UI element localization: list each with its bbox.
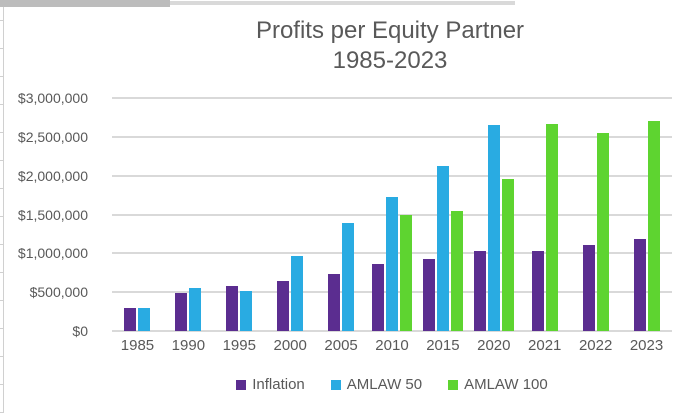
chart-title: Profits per Equity Partner 1985-2023 xyxy=(110,16,670,76)
bar-amlaw-50-2000 xyxy=(291,256,303,331)
bars-layer xyxy=(112,98,672,331)
bar-amlaw-50-2005 xyxy=(342,223,354,331)
bar-amlaw-50-2015 xyxy=(437,166,449,331)
bar-inflation-1995 xyxy=(226,286,238,331)
y-axis-tick-label: $2,000,000 xyxy=(0,169,88,183)
legend-swatch-icon xyxy=(331,380,341,390)
bar-amlaw-100-2021 xyxy=(546,124,558,331)
bar-amlaw-50-1985 xyxy=(138,308,150,331)
legend-item-amlaw-100[interactable]: AMLAW 100 xyxy=(448,377,548,393)
profits-per-equity-partner-chart: Profits per Equity Partner 1985-2023 $3,… xyxy=(0,0,690,413)
bar-amlaw-100-2015 xyxy=(451,211,463,331)
bar-amlaw-50-2020 xyxy=(488,125,500,331)
y-axis-tick-label: $1,500,000 xyxy=(0,208,88,222)
chart-legend: InflationAMLAW 50AMLAW 100 xyxy=(112,377,672,393)
x-axis-tick-label: 2021 xyxy=(519,337,570,355)
legend-item-amlaw-50[interactable]: AMLAW 50 xyxy=(331,377,422,393)
bar-inflation-2000 xyxy=(277,281,289,331)
x-axis-tick-label: 2020 xyxy=(468,337,519,355)
bar-inflation-2005 xyxy=(328,274,340,331)
x-axis-tick-label: 1990 xyxy=(163,337,214,355)
legend-label: Inflation xyxy=(252,377,305,393)
legend-label: AMLAW 100 xyxy=(464,377,548,393)
legend-label: AMLAW 50 xyxy=(347,377,422,393)
bar-inflation-2021 xyxy=(532,251,544,331)
x-axis-tick-label: 2010 xyxy=(367,337,418,355)
x-axis-tick-label: 1985 xyxy=(112,337,163,355)
x-axis-tick-label: 1995 xyxy=(214,337,265,355)
x-axis-tick-label: 2015 xyxy=(417,337,468,355)
bar-amlaw-50-1995 xyxy=(240,291,252,331)
bar-amlaw-50-1990 xyxy=(189,288,201,331)
legend-swatch-icon xyxy=(448,380,458,390)
y-axis-tick-labels: $3,000,000$2,500,000$2,000,000$1,500,000… xyxy=(0,98,100,331)
bar-inflation-2015 xyxy=(423,259,435,331)
bar-inflation-2023 xyxy=(634,239,646,331)
x-axis-tick-label: 2023 xyxy=(621,337,672,355)
y-axis-tick-label: $0 xyxy=(0,324,88,338)
y-axis-tick-label: $1,000,000 xyxy=(0,246,88,260)
y-axis-tick-label: $500,000 xyxy=(0,285,88,299)
legend-item-inflation[interactable]: Inflation xyxy=(236,377,305,393)
x-axis-tick-label: 2022 xyxy=(570,337,621,355)
bar-amlaw-100-2020 xyxy=(502,179,514,331)
bar-amlaw-100-2023 xyxy=(648,121,660,331)
bar-inflation-1985 xyxy=(124,308,136,331)
x-axis-tick-label: 2005 xyxy=(316,337,367,355)
bar-inflation-2010 xyxy=(372,264,384,331)
bar-inflation-2020 xyxy=(474,251,486,331)
bar-amlaw-100-2022 xyxy=(597,133,609,331)
legend-swatch-icon xyxy=(236,380,246,390)
x-axis-tick-labels: 1985199019952000200520102015202020212022… xyxy=(112,337,672,357)
x-axis-tick-label: 2000 xyxy=(265,337,316,355)
y-axis-tick-label: $3,000,000 xyxy=(0,91,88,105)
bar-inflation-1990 xyxy=(175,293,187,331)
bar-inflation-2022 xyxy=(583,245,595,331)
bar-amlaw-100-2010 xyxy=(400,215,412,332)
bar-amlaw-50-2010 xyxy=(386,197,398,331)
y-axis-tick-label: $2,500,000 xyxy=(0,130,88,144)
